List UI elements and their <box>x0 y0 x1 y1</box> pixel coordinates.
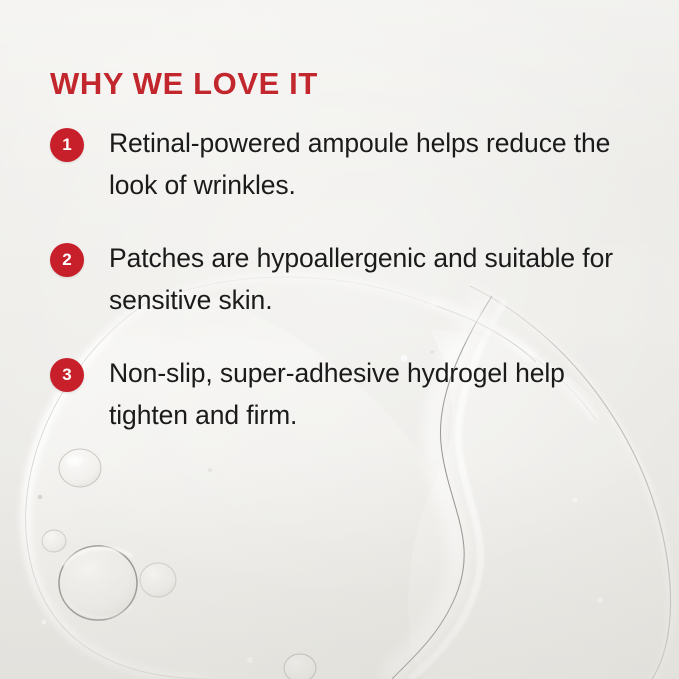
benefits-list: 1 Retinal-powered ampoule helps reduce t… <box>50 122 650 467</box>
list-item: 2 Patches are hypoallergenic and suitabl… <box>50 237 650 321</box>
list-item: 1 Retinal-powered ampoule helps reduce t… <box>50 122 650 206</box>
benefit-number-badge-2: 2 <box>50 243 84 277</box>
benefit-text-2: Patches are hypoallergenic and suitable … <box>109 237 629 321</box>
benefit-number-badge-1: 1 <box>50 128 84 162</box>
list-item: 3 Non-slip, super-adhesive hydrogel help… <box>50 352 650 436</box>
product-benefits-poster: WHY WE LOVE IT 1 Retinal-powered ampoule… <box>0 0 679 679</box>
benefit-text-3: Non-slip, super-adhesive hydrogel help t… <box>109 352 629 436</box>
page-title: WHY WE LOVE IT <box>50 67 318 101</box>
benefit-number-badge-3: 3 <box>50 358 84 392</box>
benefit-text-1: Retinal-powered ampoule helps reduce the… <box>109 122 629 206</box>
